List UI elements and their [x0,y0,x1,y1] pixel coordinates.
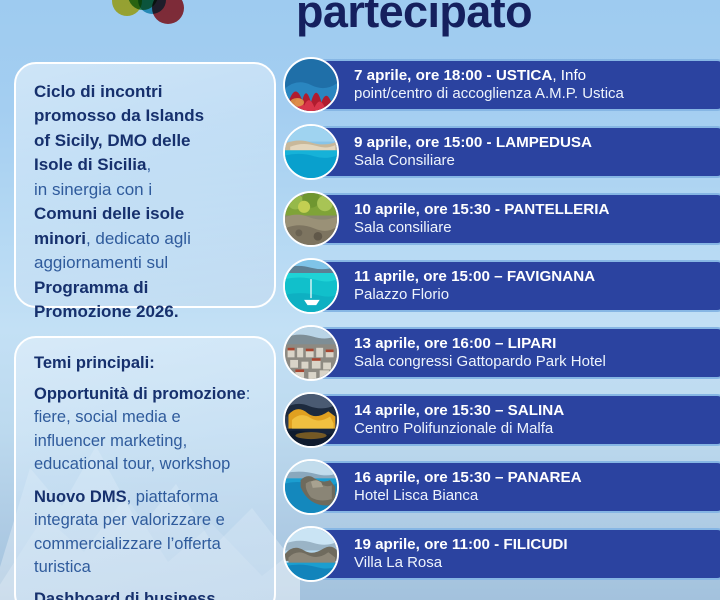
favignana-boat-thumbnail [283,258,339,314]
theme-1-colon: : [246,385,251,403]
theme-1-label: Opportunità di promozione [34,385,246,403]
lipari-town-thumbnail [283,325,339,381]
event-date-place-tail: , Info [552,67,586,84]
event-bar[interactable]: 13 aprile, ore 16:00 – LIPARISala congre… [316,327,720,379]
event-date-place: 19 aprile, ore 11:00 - FILICUDI [354,536,712,555]
theme-item-dashboard: Dashboard di business [34,588,256,600]
event-date-place: 9 aprile, ore 15:00 - LAMPEDUSA [354,134,712,153]
intro-line-7-tail: , dedicato agli [86,229,191,248]
event-date-place: 13 aprile, ore 16:00 – LIPARI [354,335,712,354]
event-item[interactable]: 14 aprile, ore 15:30 – SALINACentro Poli… [283,392,720,448]
themes-heading: Temi principali: [34,354,256,373]
event-item[interactable]: 11 aprile, ore 15:00 – FAVIGNANAPalazzo … [283,258,720,314]
event-venue: point/centro di accoglienza A.M.P. Ustic… [354,85,712,103]
intro-line-2: promosso da Islands [34,106,204,125]
balloon-dot-11 [128,0,158,10]
event-date-place: 10 aprile, ore 15:30 - PANTELLERIA [354,201,712,220]
theme-item-promotion: Opportunità di promozione: fiere, social… [34,383,256,477]
balloon-dot-12 [138,0,166,14]
event-item[interactable]: 7 aprile, ore 18:00 - USTICA, Infopoint/… [283,57,720,113]
intro-line-4: Isole di Sicilia [34,155,146,174]
filicudi-coast-thumbnail [283,526,339,582]
event-item[interactable]: 19 aprile, ore 11:00 - FILICUDIVilla La … [283,526,720,582]
balloon-dot-13 [152,0,184,24]
event-venue: Palazzo Florio [354,286,712,304]
intro-line-5: in sinergia con i [34,180,152,199]
event-venue: Sala consiliare [354,219,712,237]
intro-line-9: Programma di [34,278,148,297]
theme-item-dms: Nuovo DMS, piattaforma integrata per val… [34,486,256,580]
event-date-place-main: 10 aprile, ore 15:30 - PANTELLERIA [354,201,609,218]
theme-item-dms-text: Nuovo DMS, piattaforma integrata per val… [34,486,256,580]
event-bar[interactable]: 11 aprile, ore 15:00 – FAVIGNANAPalazzo … [316,260,720,312]
theme-1-body: fiere, social media e influencer marketi… [34,408,230,473]
event-date-place: 11 aprile, ore 15:00 – FAVIGNANA [354,268,712,287]
event-date-place-main: 13 aprile, ore 16:00 – LIPARI [354,335,556,352]
balloon-decoration [28,0,228,58]
themes-card: Temi principali: Opportunità di promozio… [14,336,276,600]
intro-line-3: of Sicily, DMO delle [34,131,191,150]
poster-canvas: partecipato Ciclo di incontri promosso d… [0,0,720,600]
theme-3-label: Dashboard di business [34,590,216,600]
pantelleria-vineyard-thumbnail [283,191,339,247]
event-venue: Villa La Rosa [354,554,712,572]
event-venue: Sala Consiliare [354,152,712,170]
intro-text: Ciclo di incontri promosso da Islands of… [34,80,256,325]
event-item[interactable]: 13 aprile, ore 16:00 – LIPARISala congre… [283,325,720,381]
theme-item-promotion-text: Opportunità di promozione: fiere, social… [34,383,256,477]
event-item[interactable]: 9 aprile, ore 15:00 - LAMPEDUSASala Cons… [283,124,720,180]
event-bar[interactable]: 10 aprile, ore 15:30 - PANTELLERIASala c… [316,193,720,245]
panarea-cliff-thumbnail [283,459,339,515]
event-date-place-main: 16 aprile, ore 15:30 – PANAREA [354,469,582,486]
event-bar[interactable]: 16 aprile, ore 15:30 – PANAREAHotel Lisc… [316,461,720,513]
lampedusa-beach-thumbnail [283,124,339,180]
event-date-place: 14 aprile, ore 15:30 – SALINA [354,402,712,421]
event-date-place-main: 7 aprile, ore 18:00 - USTICA [354,67,552,84]
intro-line-1: Ciclo di incontri [34,82,162,101]
theme-2-label: Nuovo DMS [34,488,127,506]
intro-line-8: aggiornamenti sul [34,253,168,272]
intro-card: Ciclo di incontri promosso da Islands of… [14,62,276,308]
event-date-place-main: 19 aprile, ore 11:00 - FILICUDI [354,536,568,553]
intro-line-10: Promozione 2026. [34,302,179,321]
event-date-place-main: 9 aprile, ore 15:00 - LAMPEDUSA [354,134,592,151]
event-bar[interactable]: 14 aprile, ore 15:30 – SALINACentro Poli… [316,394,720,446]
event-bar[interactable]: 19 aprile, ore 11:00 - FILICUDIVilla La … [316,528,720,580]
event-date-place-main: 14 aprile, ore 15:30 – SALINA [354,402,564,419]
event-venue: Hotel Lisca Bianca [354,487,712,505]
intro-line-4-tail: , [146,155,151,174]
event-date-place: 7 aprile, ore 18:00 - USTICA, Info [354,67,712,86]
event-venue: Centro Polifunzionale di Malfa [354,420,712,438]
coral-reef-thumbnail [283,57,339,113]
intro-line-7: minori [34,229,86,248]
event-bar[interactable]: 9 aprile, ore 15:00 - LAMPEDUSASala Cons… [316,126,720,178]
event-date-place: 16 aprile, ore 15:30 – PANAREA [354,469,712,488]
event-date-place-main: 11 aprile, ore 15:00 – FAVIGNANA [354,268,595,285]
event-bar[interactable]: 7 aprile, ore 18:00 - USTICA, Infopoint/… [316,59,720,111]
event-list: 7 aprile, ore 18:00 - USTICA, Infopoint/… [283,57,720,593]
balloon-dot-10 [112,0,142,16]
intro-line-6: Comuni delle isole [34,204,184,223]
event-item[interactable]: 10 aprile, ore 15:30 - PANTELLERIASala c… [283,191,720,247]
page-title: partecipato [296,0,532,38]
theme-item-dashboard-text: Dashboard di business [34,588,256,600]
salina-sunset-thumbnail [283,392,339,448]
event-venue: Sala congressi Gattopardo Park Hotel [354,353,712,371]
event-item[interactable]: 16 aprile, ore 15:30 – PANAREAHotel Lisc… [283,459,720,515]
